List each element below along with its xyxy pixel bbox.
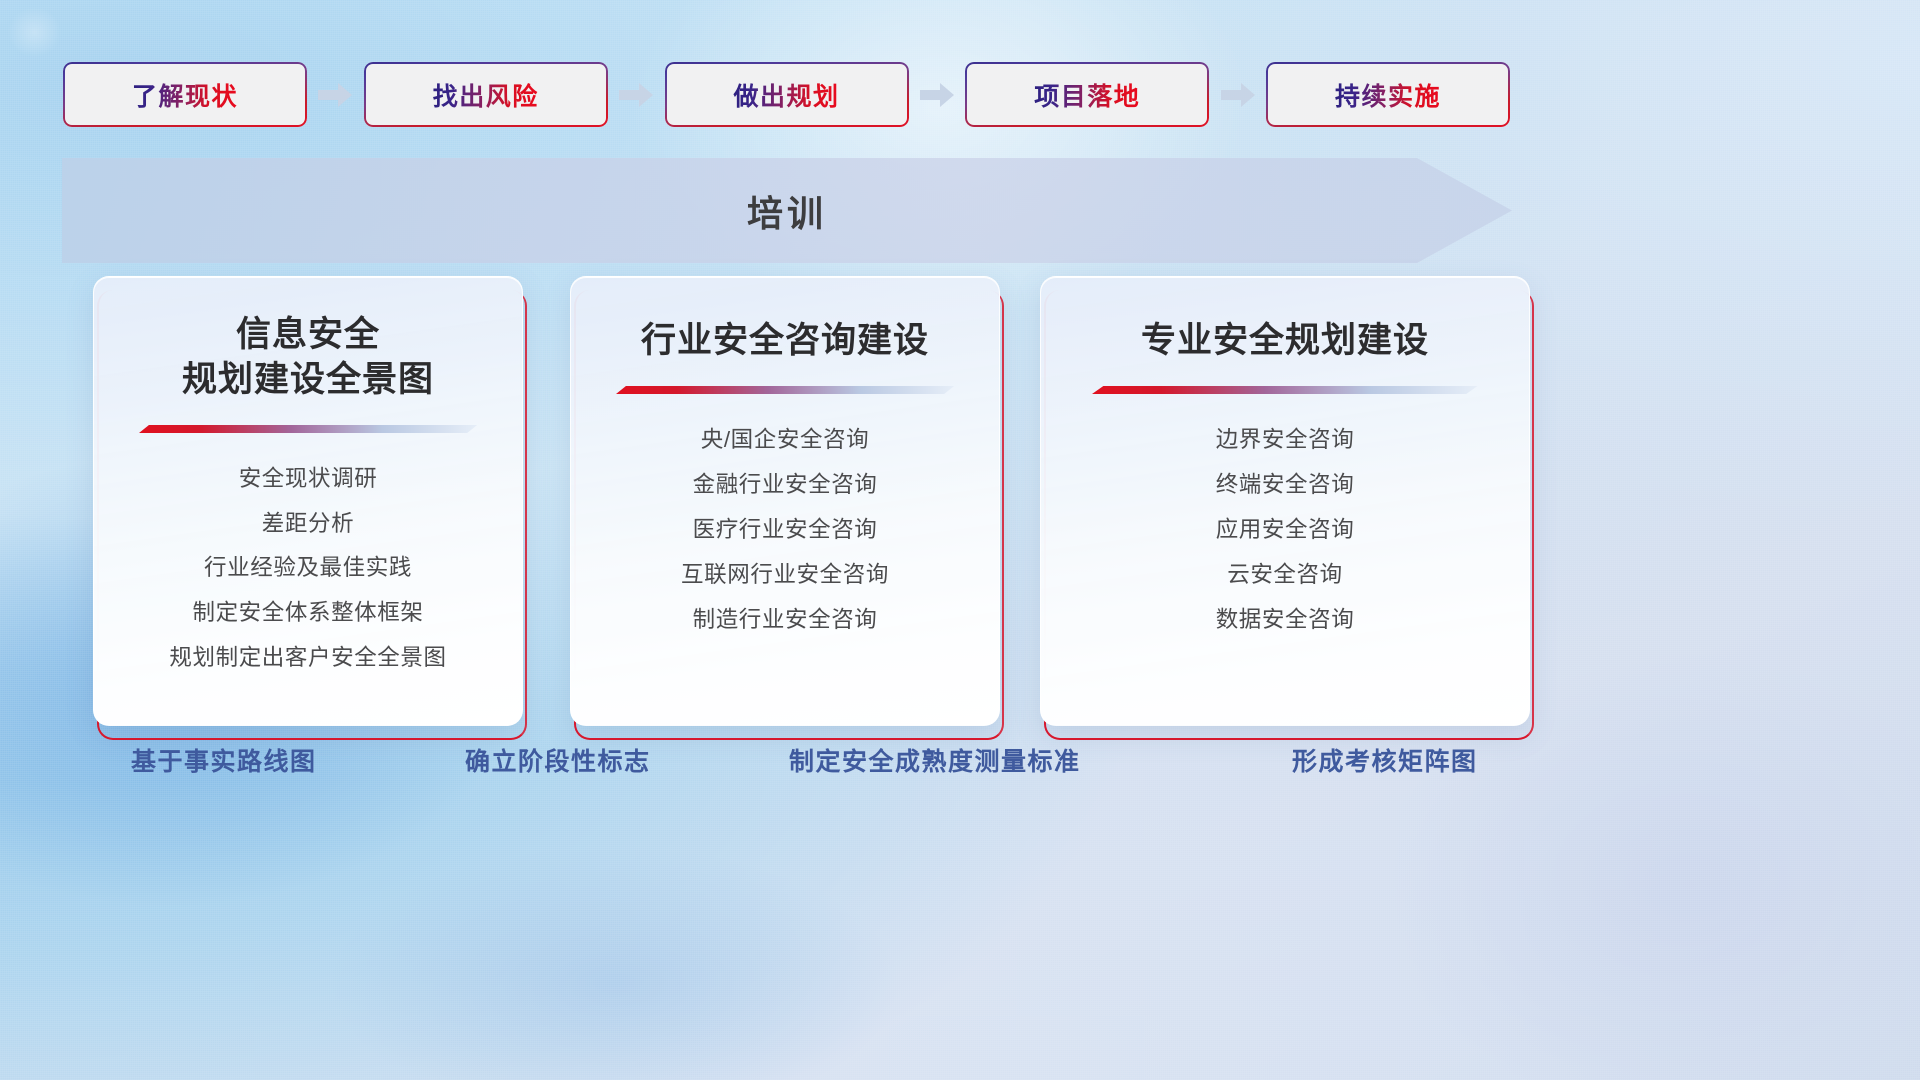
banner-label-wrap: 培训 [62, 158, 1512, 263]
list-item: 制定安全体系整体框架 [192, 593, 423, 634]
card-title: 信息安全 规划建设全景图 [182, 313, 434, 403]
card-industry-security-consulting[interactable]: 行业安全咨询建设 央/国企安全咨询 [570, 276, 1000, 726]
step-item-3[interactable]: 做出规划 [665, 62, 909, 127]
training-banner: 培训 [62, 158, 1512, 263]
step-label: 找出风险 [433, 77, 539, 113]
list-item: 数据安全咨询 [1216, 600, 1355, 641]
list-item: 应用安全咨询 [1216, 510, 1355, 551]
arrow-right-icon [617, 80, 655, 110]
card-information-security-blueprint[interactable]: 信息安全 规划建设全景图 安全现状调研 [93, 276, 523, 726]
card-item-list: 央/国企安全咨询 金融行业安全咨询 医疗行业安全咨询 互联网行业安全咨询 制造行… [571, 420, 999, 641]
list-item: 规划制定出客户安全全景图 [169, 638, 446, 679]
card-divider [616, 386, 954, 396]
step-item-4[interactable]: 项目落地 [965, 62, 1209, 127]
banner-label: 培训 [747, 185, 827, 237]
list-item: 制造行业安全咨询 [693, 600, 878, 641]
card-wrapper-1: 信息安全 规划建设全景图 安全现状调研 [93, 276, 523, 726]
card-item-list: 边界安全咨询 终端安全咨询 应用安全咨询 云安全咨询 数据安全咨询 [1041, 420, 1529, 641]
step-item-2[interactable]: 找出风险 [364, 62, 608, 127]
card-group: 信息安全 规划建设全景图 安全现状调研 [0, 276, 1920, 726]
caption-item: 基于事实路线图 [131, 742, 317, 778]
step-label: 做出规划 [733, 77, 839, 113]
caption-row: 基于事实路线图 确立阶段性标志 制定安全成熟度测量标准 形成考核矩阵图 [0, 742, 1920, 802]
caption-item: 制定安全成熟度测量标准 [789, 742, 1081, 778]
card-professional-security-planning[interactable]: 专业安全规划建设 边界安全咨询 [1040, 276, 1530, 726]
step-label: 项目落地 [1034, 77, 1140, 113]
card-divider [1092, 386, 1478, 396]
list-item: 互联网行业安全咨询 [681, 555, 889, 596]
list-item: 边界安全咨询 [1216, 420, 1355, 461]
caption-item: 确立阶段性标志 [465, 742, 651, 778]
list-item: 云安全咨询 [1227, 555, 1343, 596]
step-item-1[interactable]: 了解现状 [63, 62, 307, 127]
step-item-5[interactable]: 持续实施 [1266, 62, 1510, 127]
step-label: 了解现状 [132, 77, 238, 113]
caption-item: 形成考核矩阵图 [1292, 742, 1478, 778]
card-title: 行业安全咨询建设 [641, 319, 929, 364]
list-item: 金融行业安全咨询 [693, 465, 878, 506]
list-item: 行业经验及最佳实践 [204, 548, 412, 589]
card-wrapper-2: 行业安全咨询建设 央/国企安全咨询 [570, 276, 1000, 726]
process-step-flow: 了解现状 找出风险 做出规划 项目落地 持续实施 [63, 62, 1510, 127]
list-item: 医疗行业安全咨询 [693, 510, 878, 551]
list-item: 安全现状调研 [239, 459, 378, 500]
card-wrapper-3: 专业安全规划建设 边界安全咨询 [1040, 276, 1530, 726]
list-item: 央/国企安全咨询 [701, 420, 870, 461]
step-label: 持续实施 [1335, 77, 1441, 113]
card-divider [139, 425, 477, 435]
card-title: 专业安全规划建设 [1141, 319, 1429, 364]
list-item: 差距分析 [262, 504, 354, 545]
list-item: 终端安全咨询 [1216, 465, 1355, 506]
arrow-right-icon [316, 80, 354, 110]
arrow-right-icon [918, 80, 956, 110]
card-item-list: 安全现状调研 差距分析 行业经验及最佳实践 制定安全体系整体框架 规划制定出客户… [94, 459, 522, 680]
arrow-right-icon [1219, 80, 1257, 110]
